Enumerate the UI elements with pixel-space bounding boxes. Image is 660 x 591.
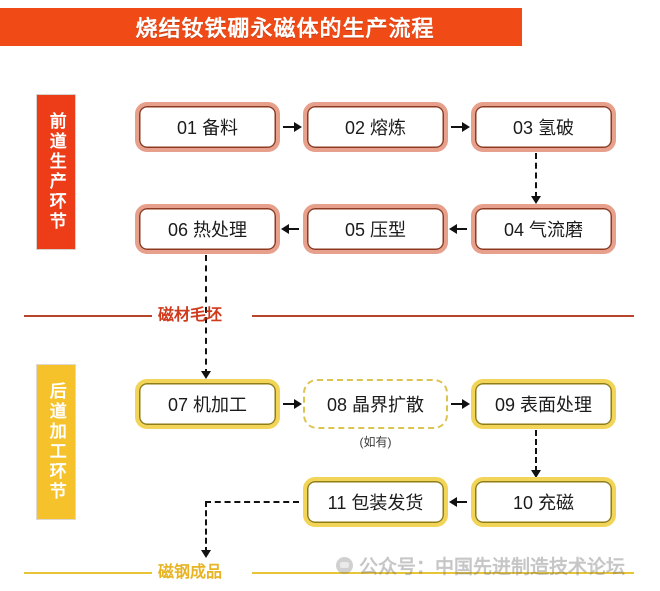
node-10-chongci[interactable]: 10 充磁 xyxy=(471,477,616,527)
node-06-rechuli[interactable]: 06 热处理 xyxy=(135,204,280,254)
connector-09-to-10 xyxy=(535,430,537,472)
divider-magnet-product: 磁钢成品 xyxy=(0,562,660,584)
node-08-label: 08 晶界扩散 xyxy=(327,391,424,417)
connector-11-to-finish-horizontal xyxy=(205,501,299,503)
arrowhead-10-to-11 xyxy=(449,497,457,507)
arrowhead-07-to-08 xyxy=(294,399,302,409)
section-banner-front: 前道生产环节 xyxy=(36,94,76,250)
section-banner-back: 后道加工环节 xyxy=(36,364,76,520)
arrowhead-01-to-02 xyxy=(294,122,302,132)
node-01-label: 01 备料 xyxy=(177,114,238,140)
arrowhead-04-to-05 xyxy=(449,224,457,234)
node-10-label: 10 充磁 xyxy=(513,489,574,515)
node-03-label: 03 氢破 xyxy=(513,114,574,140)
arrowhead-02-to-03 xyxy=(462,122,470,132)
node-05-label: 05 压型 xyxy=(345,216,406,242)
node-07-jijiagong[interactable]: 07 机加工 xyxy=(135,379,280,429)
node-02-label: 02 熔炼 xyxy=(345,114,406,140)
node-05-yaxing[interactable]: 05 压型 xyxy=(303,204,448,254)
arrowhead-06-to-07 xyxy=(201,371,211,379)
divider-magnet-blank: 磁材毛坯 xyxy=(0,305,660,327)
page-title-banner: 烧结钕铁硼永磁体的生产流程 xyxy=(0,8,522,46)
arrowhead-11-to-finish xyxy=(201,550,211,558)
node-04-qiliumo[interactable]: 04 气流磨 xyxy=(471,204,616,254)
page-title: 烧结钕铁硼永磁体的生产流程 xyxy=(87,11,434,43)
connector-03-to-04 xyxy=(535,153,537,198)
connector-11-to-finish-vertical xyxy=(205,501,207,553)
divider-finish-rule-right xyxy=(252,572,634,574)
node-09-label: 09 表面处理 xyxy=(495,391,592,417)
divider-rule-left xyxy=(24,315,152,317)
node-01-beiliao[interactable]: 01 备料 xyxy=(135,102,280,152)
divider-magnet-product-label: 磁钢成品 xyxy=(158,562,222,584)
flowchart-canvas: 烧结钕铁硼永磁体的生产流程 前道生产环节 后道加工环节 01 备料 02 熔炼 … xyxy=(0,0,660,591)
node-08-caption: (如有) xyxy=(303,433,448,450)
node-07-label: 07 机加工 xyxy=(168,391,247,417)
node-04-label: 04 气流磨 xyxy=(504,216,583,242)
node-11-label: 11 包装发货 xyxy=(328,489,424,515)
arrowhead-08-to-09 xyxy=(462,399,470,409)
node-02-rongl[interactable]: 02 熔炼 xyxy=(303,102,448,152)
arrowhead-03-to-04 xyxy=(531,196,541,204)
section-banner-front-label: 前道生产环节 xyxy=(46,112,66,232)
divider-magnet-blank-label: 磁材毛坯 xyxy=(158,305,222,327)
node-06-label: 06 热处理 xyxy=(168,216,247,242)
node-11-baozhuangfahuo[interactable]: 11 包装发货 xyxy=(303,477,448,527)
divider-rule-right xyxy=(252,315,634,317)
divider-finish-rule-left xyxy=(24,572,152,574)
node-09-biaomianchuli[interactable]: 09 表面处理 xyxy=(471,379,616,429)
arrowhead-05-to-06 xyxy=(281,224,289,234)
node-03-qingpo[interactable]: 03 氢破 xyxy=(471,102,616,152)
section-banner-back-label: 后道加工环节 xyxy=(46,382,66,502)
node-08-jingjiekuosan[interactable]: 08 晶界扩散 xyxy=(303,379,448,429)
